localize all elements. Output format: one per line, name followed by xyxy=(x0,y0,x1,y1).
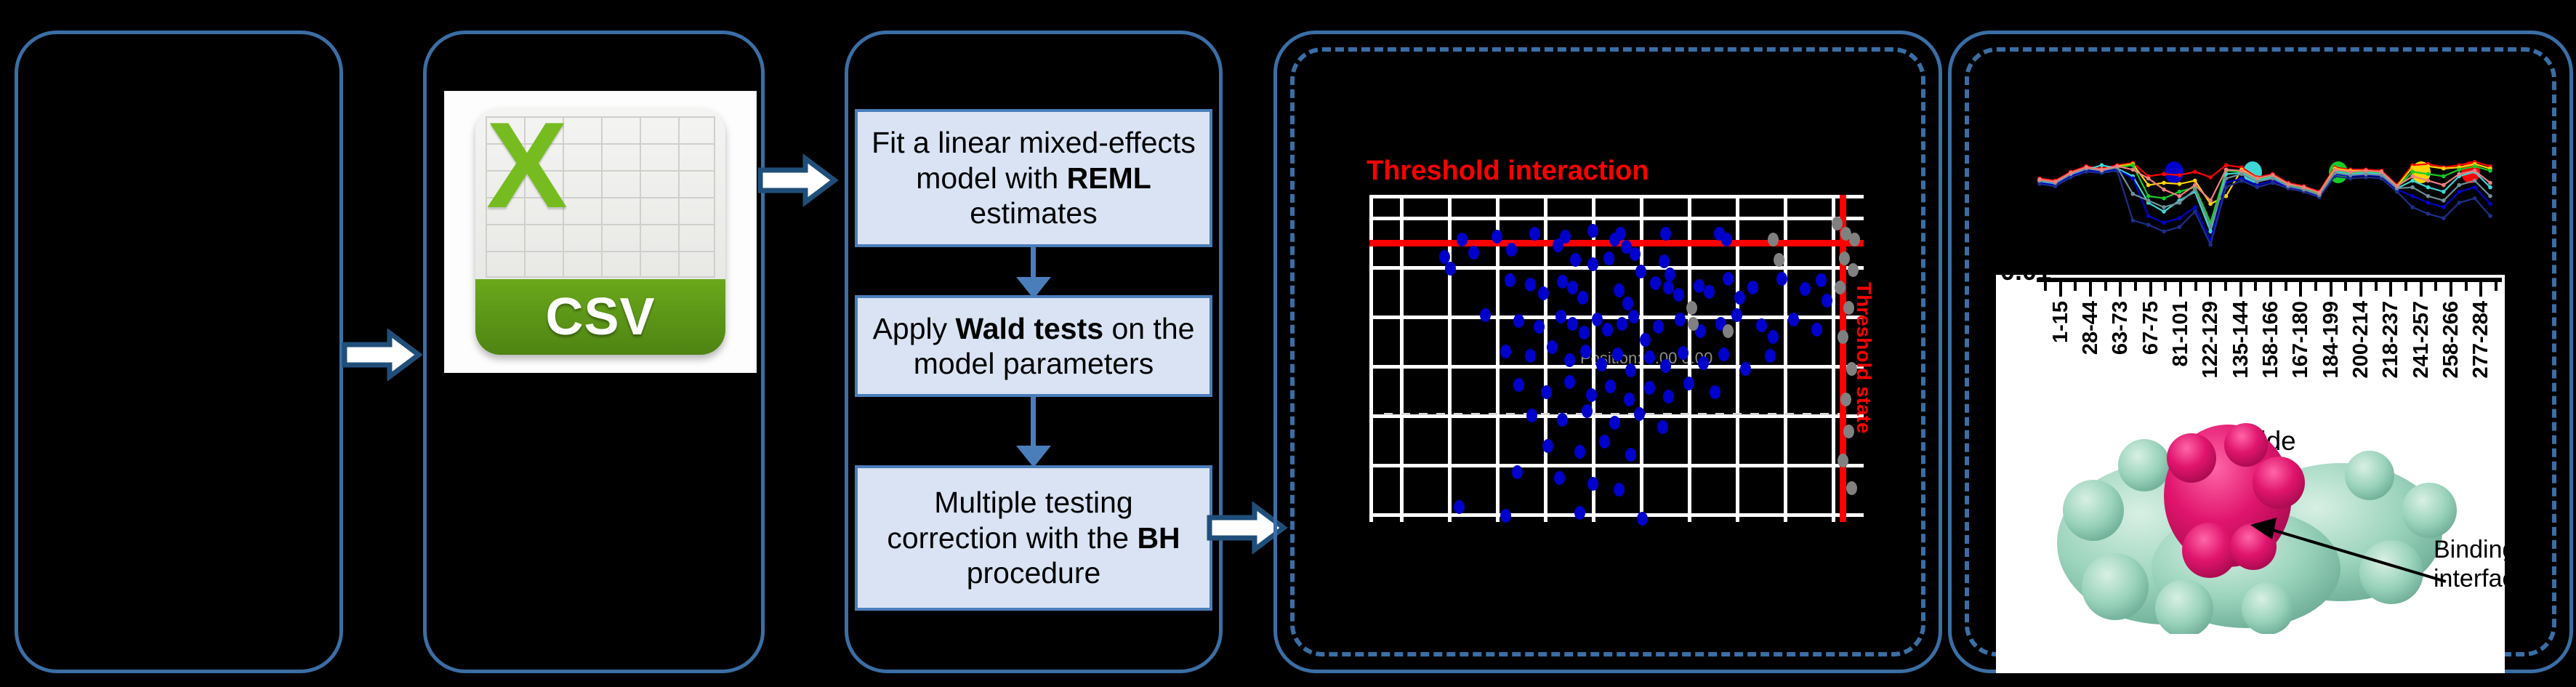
series-point xyxy=(2473,164,2477,169)
step-box-wald-tests[interactable]: Apply Wald tests on the model parameters xyxy=(855,295,1212,397)
series-point xyxy=(2100,163,2104,167)
x-minor-tick xyxy=(2375,282,2378,291)
series-point xyxy=(2457,172,2461,177)
series-point xyxy=(2457,183,2461,188)
series-point xyxy=(2146,177,2151,181)
step2-pre: Apply xyxy=(873,312,956,345)
series-point xyxy=(2255,185,2260,190)
csv-file-icon: X CSV xyxy=(445,92,756,372)
series-point xyxy=(2239,179,2244,183)
volcano-title: Threshold interaction xyxy=(1367,156,1649,187)
binding-note-line1: Binding xyxy=(2434,535,2528,564)
series-point xyxy=(2178,225,2182,230)
series-point xyxy=(2488,202,2492,206)
series-point xyxy=(2410,185,2415,190)
series-point xyxy=(2178,190,2182,194)
series-point xyxy=(2069,171,2073,175)
series-point xyxy=(2348,170,2353,174)
series-point xyxy=(2410,170,2415,174)
series-point xyxy=(2146,183,2151,188)
series-point xyxy=(2473,179,2477,183)
series-point xyxy=(2426,172,2431,177)
series-point xyxy=(2426,185,2431,190)
series-point xyxy=(2193,205,2197,209)
series-point xyxy=(2442,183,2446,188)
flow-arrow-1-icon xyxy=(342,329,423,381)
series-point xyxy=(2162,220,2166,225)
series-point xyxy=(2146,194,2151,198)
flow-arrow-2-icon xyxy=(757,154,839,206)
x-tick xyxy=(2179,282,2182,297)
x-tick xyxy=(2119,282,2122,297)
x-tick xyxy=(2059,282,2062,297)
pipeline-figure: X CSV Fit a linear mixed-effects model w… xyxy=(0,0,2576,687)
volcano-plot-area: Threshold state Position: 0.00 0.00 xyxy=(1369,195,1864,522)
connector-2 xyxy=(1031,397,1036,452)
series-point xyxy=(2208,225,2213,230)
series-point xyxy=(2162,196,2166,201)
series-point xyxy=(2178,216,2182,220)
x-minor-tick xyxy=(2465,282,2468,291)
excel-x-letter: X xyxy=(480,111,574,220)
connector-2-arrowhead-icon xyxy=(1016,446,1051,467)
x-minor-tick xyxy=(2344,282,2347,291)
series-point xyxy=(2302,185,2306,190)
series-point xyxy=(2208,243,2213,247)
x-tick-label: 1-15 xyxy=(2049,301,2073,343)
x-minor-tick xyxy=(2224,282,2227,291)
step3-bold: BH xyxy=(1137,521,1180,555)
series-point xyxy=(2442,166,2446,171)
x-minor-tick xyxy=(2285,282,2287,291)
series-point xyxy=(2224,167,2229,172)
x-tick xyxy=(2299,282,2302,297)
x-tick-label: 81-101 xyxy=(2169,301,2193,366)
series-point xyxy=(2130,167,2135,172)
x-tick xyxy=(2239,282,2242,297)
series-point xyxy=(2426,212,2431,216)
series-point xyxy=(2130,218,2135,222)
threshold-state-label: Threshold state xyxy=(1852,282,1875,433)
step-box-fit-model[interactable]: Fit a linear mixed-effects model with RE… xyxy=(855,109,1212,247)
series-point xyxy=(2224,177,2229,181)
series-point xyxy=(2473,185,2477,190)
series-point xyxy=(2037,177,2042,182)
x-minor-tick xyxy=(2134,282,2137,291)
x-tick xyxy=(2089,282,2092,297)
series-point xyxy=(2286,182,2290,186)
series-point xyxy=(2473,169,2477,173)
csv-format-label: CSV xyxy=(545,287,655,347)
x-tick-label: 135-144 xyxy=(2229,301,2253,378)
series-point xyxy=(2084,165,2088,169)
x-tick-label: 241-257 xyxy=(2410,301,2434,378)
step3-pre: Multiple testing correction with the xyxy=(887,486,1137,554)
x-tick-label: 184-199 xyxy=(2319,301,2343,378)
series-point xyxy=(2239,169,2244,173)
series-point xyxy=(2380,170,2384,174)
series-point xyxy=(2442,174,2446,179)
series-point xyxy=(2488,169,2492,173)
x-tick xyxy=(2359,282,2362,297)
series-point xyxy=(2457,190,2461,194)
x-tick-label: 218-237 xyxy=(2379,301,2403,378)
series-point xyxy=(2193,188,2197,192)
series-point xyxy=(2130,163,2135,167)
series-point xyxy=(2146,222,2151,227)
x-tick-label: 158-166 xyxy=(2259,301,2283,378)
binding-note-line2: interface xyxy=(2434,564,2528,593)
series-point xyxy=(2488,185,2492,190)
x-tick-label: 63-73 xyxy=(2109,301,2133,355)
series-point xyxy=(2193,183,2197,188)
threshold-state-line xyxy=(1840,195,1846,522)
series-point xyxy=(2364,169,2368,173)
series-point xyxy=(2271,173,2275,177)
series-point xyxy=(2146,198,2151,203)
series-point xyxy=(2162,188,2166,192)
step-box-multiple-testing[interactable]: Multiple testing correction with the BH … xyxy=(855,465,1212,611)
y-axis-value-label: 0.01 xyxy=(2000,256,2051,286)
x-tick xyxy=(2479,282,2482,297)
series-point xyxy=(2193,209,2197,214)
x-tick-label: 28-44 xyxy=(2079,301,2103,355)
series-point xyxy=(2162,230,2166,234)
x-minor-tick xyxy=(2314,282,2317,291)
x-tick-label: 67-75 xyxy=(2139,301,2163,355)
series-point xyxy=(2193,179,2197,183)
series-point xyxy=(2395,184,2399,188)
x-minor-tick xyxy=(2194,282,2197,291)
series-point xyxy=(2457,167,2461,172)
x-tick xyxy=(2420,282,2423,297)
series-point xyxy=(2426,164,2431,169)
series-point xyxy=(2162,181,2166,185)
series-point xyxy=(2410,165,2415,169)
series-point xyxy=(2146,214,2151,218)
x-minor-tick xyxy=(2254,282,2257,291)
series-point xyxy=(2410,179,2415,183)
series-point xyxy=(2442,205,2446,209)
x-tick xyxy=(2149,282,2152,297)
x-tick-label: 277-284 xyxy=(2469,301,2493,378)
series-point xyxy=(2426,179,2431,183)
series-point xyxy=(2426,194,2431,198)
x-tick xyxy=(2269,282,2272,297)
x-tick xyxy=(2450,282,2452,297)
series-point xyxy=(2178,173,2182,177)
series-point xyxy=(2457,201,2461,205)
series-point xyxy=(2488,181,2492,185)
step2-bold: Wald tests xyxy=(956,312,1104,345)
series-point xyxy=(2442,190,2446,194)
panel-input xyxy=(15,31,343,673)
series-point xyxy=(2053,180,2058,184)
series-point xyxy=(2162,205,2166,209)
series-point xyxy=(2255,177,2260,181)
x-tick xyxy=(2389,282,2392,297)
x-tick-label: 122-129 xyxy=(2199,301,2223,378)
x-tick-label: 167-180 xyxy=(2289,301,2313,378)
series-point xyxy=(2100,167,2104,172)
series-point xyxy=(2130,177,2135,181)
series-point xyxy=(2178,182,2182,186)
x-tick-label: 200-214 xyxy=(2349,301,2373,378)
x-tick xyxy=(2209,282,2212,297)
step1-bold: REML xyxy=(1067,161,1151,195)
series-point xyxy=(2162,209,2166,214)
series-point xyxy=(2317,190,2322,195)
series-point xyxy=(2130,192,2135,196)
series-point xyxy=(2224,185,2229,190)
series-point xyxy=(2271,181,2275,185)
series-point xyxy=(2426,201,2431,205)
protein-structure-image xyxy=(2028,416,2479,634)
x-minor-tick xyxy=(2104,282,2107,291)
series-point xyxy=(2442,216,2446,220)
csv-tile: X CSV xyxy=(475,108,725,355)
series-point xyxy=(2193,170,2197,174)
x-minor-tick xyxy=(2074,282,2077,291)
series-point xyxy=(2115,164,2120,169)
series-point xyxy=(2410,205,2415,209)
series-point xyxy=(2488,214,2492,218)
x-tick xyxy=(2330,282,2333,297)
x-minor-tick xyxy=(2404,282,2407,291)
series-point xyxy=(2410,194,2415,198)
series-point xyxy=(2442,198,2446,203)
peptide-line-chart xyxy=(1992,145,2529,269)
series-point xyxy=(2333,167,2337,172)
series-point xyxy=(2178,201,2182,205)
series-point xyxy=(2208,175,2213,180)
series-point xyxy=(2473,196,2477,201)
step3-post: procedure xyxy=(967,556,1101,590)
series-point xyxy=(2162,172,2166,177)
series-point xyxy=(2410,174,2415,179)
series-point xyxy=(2488,194,2492,198)
x-minor-tick xyxy=(2164,282,2167,291)
series-line-navy xyxy=(2040,171,2490,245)
x-minor-tick xyxy=(2434,282,2437,291)
x-minor-tick xyxy=(2495,282,2497,291)
series-point xyxy=(2224,163,2229,167)
series-point xyxy=(2208,198,2213,203)
csv-format-band: CSV xyxy=(475,279,725,355)
x-tick-label: 258-266 xyxy=(2439,301,2463,378)
binding-interface-annotation: Binding interface xyxy=(2434,535,2528,593)
series-point xyxy=(2178,194,2182,198)
step1-post: estimates xyxy=(970,196,1097,230)
